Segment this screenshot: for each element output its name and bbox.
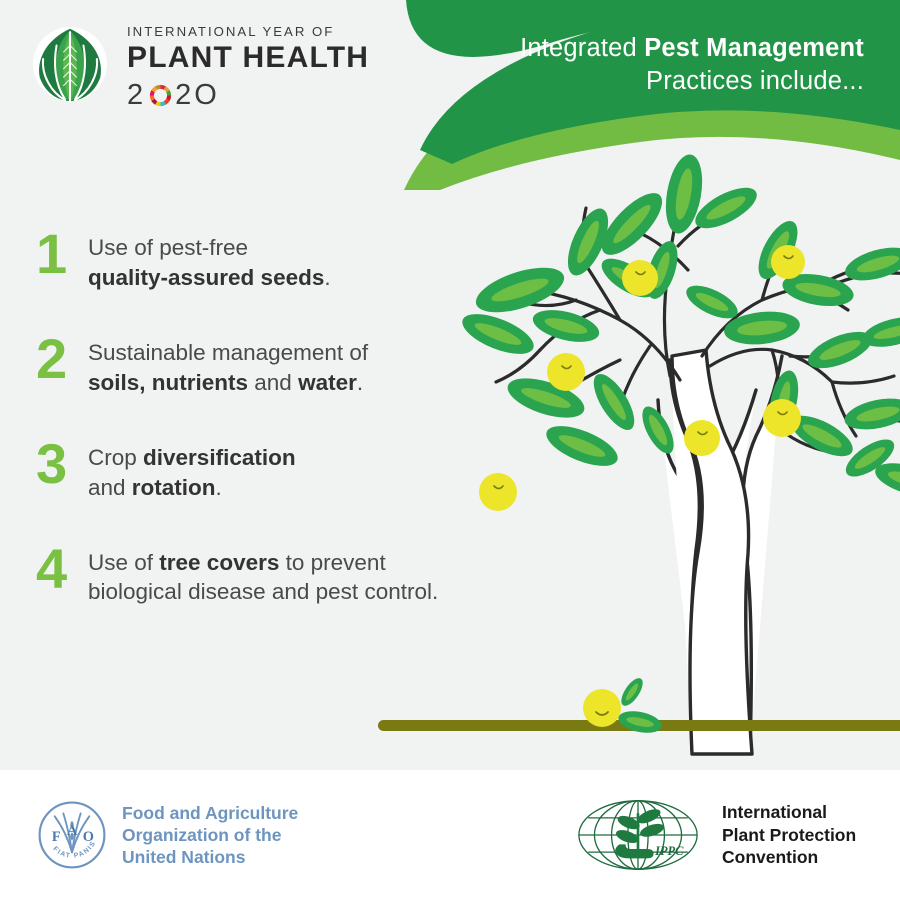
practice-line-1-tail: to prevent xyxy=(279,550,385,575)
header-line-2: Practices include... xyxy=(394,65,864,98)
list-item: 4 Use of tree covers to prevent biologic… xyxy=(36,543,456,608)
fao-line-2: Organization of the xyxy=(122,824,298,846)
practice-number: 1 xyxy=(36,228,88,280)
practice-line-1: Use of xyxy=(88,550,159,575)
practice-text: Sustainable management of soils, nutrien… xyxy=(88,333,456,398)
fao-wordmark: Food and Agriculture Organization of the… xyxy=(122,802,298,869)
ippc-wordmark: International Plant Protection Conventio… xyxy=(722,801,856,869)
practice-number: 3 xyxy=(36,438,88,490)
ippc-logo-group: IPPC International Plant Protection Conv… xyxy=(568,796,856,874)
practice-number: 2 xyxy=(36,333,88,385)
plant-health-leaf-sphere-icon xyxy=(28,22,112,106)
fao-line-3: United Nations xyxy=(122,846,298,868)
practice-emphasis-b: rotation xyxy=(132,475,216,500)
sdg-color-wheel-icon xyxy=(149,84,172,107)
practice-tail: . xyxy=(216,475,222,500)
ippc-line-3: Convention xyxy=(722,846,856,869)
practice-emphasis-b: water xyxy=(298,370,357,395)
year-digit-3: 2 xyxy=(175,79,194,112)
practice-emphasis-a: soils, nutrients xyxy=(88,370,248,395)
practice-emphasis-a: diversification xyxy=(143,445,296,470)
practice-text: Use of tree covers to prevent biological… xyxy=(88,543,456,608)
infographic-poster: Integrated Pest Management Practices inc… xyxy=(0,0,900,900)
practice-emphasis: tree covers xyxy=(159,550,279,575)
iyph-title: PLANT HEALTH xyxy=(127,41,369,75)
list-item: 3 Crop diversification and rotation. xyxy=(36,438,456,503)
ippc-logo-label: IPPC xyxy=(654,844,684,858)
practice-text: Use of pest-free quality-assured seeds. xyxy=(88,228,456,293)
year-digit-4: O xyxy=(194,79,220,112)
ippc-globe-plant-hand-icon: IPPC xyxy=(568,796,708,874)
practice-line-1: Sustainable management of xyxy=(88,340,368,365)
ippc-line-1: International xyxy=(722,801,856,824)
practice-line-1: Use of pest-free xyxy=(88,235,248,260)
iyph-supertitle: INTERNATIONAL YEAR OF xyxy=(127,24,369,39)
list-item: 1 Use of pest-free quality-assured seeds… xyxy=(36,228,456,293)
iyph-wordmark: INTERNATIONAL YEAR OF PLANT HEALTH 2 xyxy=(127,22,369,112)
svg-text:A: A xyxy=(67,823,78,839)
list-item: 2 Sustainable management of soils, nutri… xyxy=(36,333,456,398)
practice-text: Crop diversification and rotation. xyxy=(88,438,456,503)
svg-text:F: F xyxy=(52,829,61,845)
iyph-year: 2 xyxy=(127,79,369,112)
practice-tail: . xyxy=(324,265,330,290)
practice-line-2: and xyxy=(88,475,132,500)
practice-line-2: biological disease and pest control. xyxy=(88,579,438,604)
practice-tail: . xyxy=(357,370,363,395)
year-digit-1: 2 xyxy=(127,79,146,112)
practice-line-1: Crop xyxy=(88,445,143,470)
ippc-line-2: Plant Protection xyxy=(722,824,856,847)
footer-bar: F A O FIAT PANIS Food and Agriculture Or… xyxy=(0,770,900,900)
practice-emphasis: quality-assured seeds xyxy=(88,265,324,290)
fao-wheat-ears-icon: F A O FIAT PANIS xyxy=(36,799,108,871)
header-line-1: Integrated Pest Management xyxy=(394,32,864,65)
fao-line-1: Food and Agriculture xyxy=(122,802,298,824)
practice-number: 4 xyxy=(36,543,88,595)
fao-logo-group: F A O FIAT PANIS Food and Agriculture Or… xyxy=(36,799,298,871)
header-title-block: Integrated Pest Management Practices inc… xyxy=(394,32,864,98)
header-emphasis: Pest Management xyxy=(644,34,864,62)
practices-list: 1 Use of pest-free quality-assured seeds… xyxy=(36,228,456,647)
iyph-logo-block: INTERNATIONAL YEAR OF PLANT HEALTH 2 xyxy=(28,22,369,112)
practice-conjunction: and xyxy=(248,370,298,395)
